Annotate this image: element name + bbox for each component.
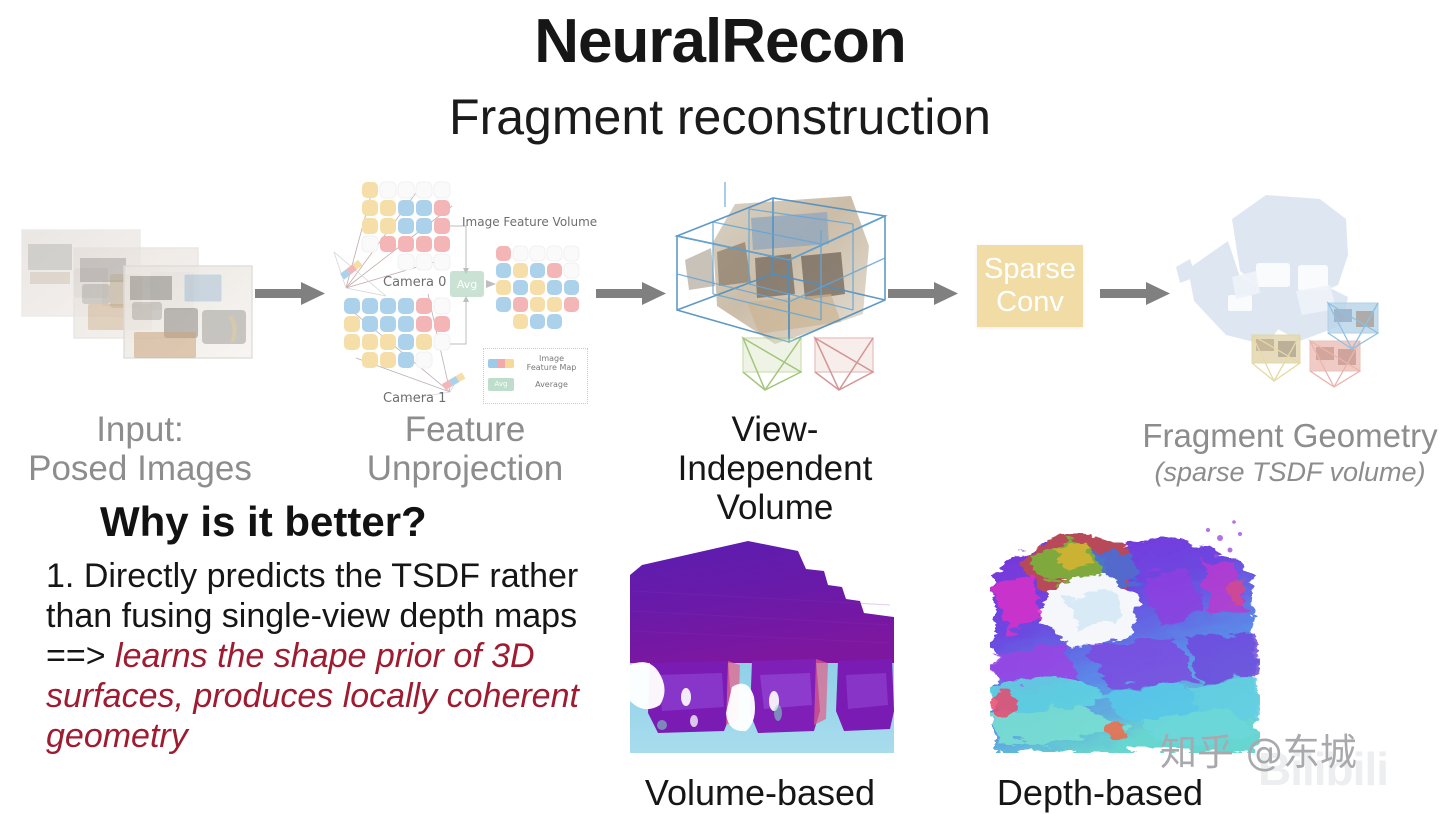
why-arrow-marker: ==>	[46, 637, 106, 675]
arrow-input-to-feature	[255, 280, 327, 310]
voxel-volume-svg	[655, 182, 905, 397]
legend-image-line1: Image	[539, 354, 564, 363]
depth-based-reconstruction	[990, 508, 1260, 753]
stage-input-line2: Posed Images	[20, 449, 260, 488]
volume-based-reconstruction	[628, 535, 896, 753]
stage-label-volume: View-Independent Volume	[640, 410, 910, 528]
arrow-volume-to-sparseconv	[888, 280, 960, 310]
fragment-geometry-svg	[1170, 185, 1430, 397]
stage-volume-line1: View-Independent	[640, 410, 910, 488]
svg-text:Avg: Avg	[457, 278, 477, 291]
arrow-sparseconv-to-fragment	[1100, 280, 1172, 310]
camera-frustum-red	[815, 338, 873, 390]
why-body: 1. Directly predicts the TSDF rather tha…	[46, 556, 606, 757]
input-posed-images-stack	[18, 228, 258, 358]
stage-feature-line2: Unprojection	[330, 449, 600, 488]
sparse-conv-line1: Sparse	[984, 253, 1076, 286]
why-item-number: 1.	[46, 557, 74, 595]
avg-swatch: Avg	[488, 378, 514, 391]
watermark-zhihu: 知乎 @东城	[1160, 722, 1357, 776]
stage-label-feature: Feature Unprojection	[330, 410, 600, 488]
why-item-text: Directly predicts the TSDF rather than f…	[46, 557, 578, 635]
depth-based-svg	[990, 508, 1260, 753]
camera0-label: Camera 0	[383, 275, 446, 290]
feature-map-swatch	[488, 359, 514, 368]
stage-label-input: Input: Posed Images	[20, 410, 260, 488]
camera-frustum-yellow	[1252, 335, 1300, 381]
volume-based-svg	[628, 535, 896, 753]
legend-image-line2: Feature Map	[527, 363, 577, 372]
feature-diagram-legend: Image Feature Map Avg Average	[483, 348, 588, 404]
sparse-conv-line2: Conv	[996, 286, 1064, 319]
stage-fragment-line1: Fragment Geometry	[1140, 418, 1440, 455]
why-accent-text: learns the shape prior of 3D surfaces, p…	[46, 637, 579, 755]
page-subtitle: Fragment reconstruction	[0, 88, 1440, 146]
stage-label-fragment: Fragment Geometry (sparse TSDF volume)	[1140, 418, 1440, 487]
stage-volume-line2: Volume	[640, 488, 910, 527]
sparse-conv-block: Sparse Conv	[977, 245, 1083, 327]
camera-frustum-green	[743, 338, 801, 390]
posed-images-svg	[18, 228, 258, 360]
stage-feature-line1: Feature	[330, 410, 600, 449]
stage-input-line1: Input:	[20, 410, 260, 449]
page-title: NeuralRecon	[0, 6, 1440, 77]
fragment-geometry-graphic	[1170, 185, 1430, 397]
stage-fragment-line2: (sparse TSDF volume)	[1140, 457, 1440, 487]
camera1-label: Camera 1	[383, 391, 446, 406]
view-independent-volume-graphic	[655, 182, 905, 397]
legend-average-label: Average	[520, 380, 583, 389]
why-heading: Why is it better?	[100, 498, 427, 546]
feature-volume-label: Image Feature Volume	[462, 215, 597, 229]
